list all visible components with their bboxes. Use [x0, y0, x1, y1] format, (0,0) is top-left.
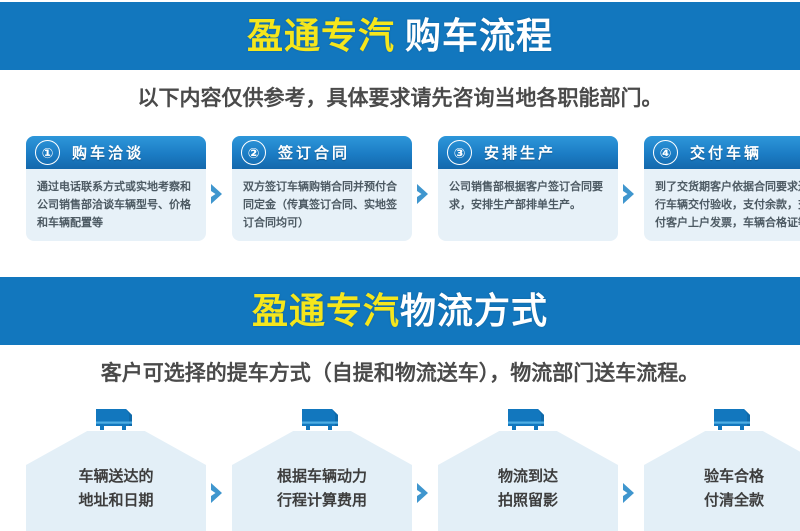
- step-card-1[interactable]: ① 购车洽谈 通过电话联系方式或实地考察和公司销售部洽谈车辆型号、价格和车辆配置…: [26, 136, 206, 241]
- step-card-2[interactable]: ② 签订合同 双方签订车辆购销合同并预付合同定金（传真签订合同、实地签订合同均可…: [232, 136, 412, 241]
- banner-title-purchase: 盈通专汽购车流程: [247, 18, 553, 54]
- step-number-badge-2: ②: [241, 140, 266, 165]
- logistics-line2-3: 拍照留影: [498, 489, 558, 513]
- logistics-line1-4: 验车合格: [704, 465, 764, 489]
- logistics-text-1: 车辆送达的 地址和日期: [78, 465, 153, 513]
- step-number-badge-3: ③: [447, 140, 472, 165]
- step-title-2: 签订合同: [278, 142, 350, 163]
- step-arrow-gap-1: [206, 136, 232, 241]
- truck-icon: [711, 407, 757, 433]
- logistics-item-2[interactable]: 根据车辆动力 行程计算费用: [232, 405, 412, 531]
- step-arrow-gap-3: [618, 136, 644, 241]
- logistics-line1-2: 根据车辆动力: [277, 465, 367, 489]
- truck-icon: [299, 407, 345, 433]
- chevron-right-icon: [622, 184, 635, 204]
- logi-arrow-gap-3: [618, 405, 644, 531]
- chevron-right-icon: [416, 184, 429, 204]
- step-2-header: ② 签订合同: [232, 136, 412, 169]
- step-4-header: ④ 交付车辆: [644, 136, 800, 169]
- logistics-text-2: 根据车辆动力 行程计算费用: [277, 465, 367, 513]
- chevron-right-icon: [622, 483, 635, 503]
- infographic-page: 盈通专汽购车流程 以下内容仅供参考，具体要求请先咨询当地各职能部门。 ① 购车洽…: [0, 0, 800, 531]
- row-left-pad: [0, 136, 26, 241]
- step-arrow-gap-2: [412, 136, 438, 241]
- purchase-process-banner: 盈通专汽购车流程: [0, 2, 800, 70]
- banner-title-logistics: 盈通专汽物流方式: [252, 293, 548, 329]
- logistics-subtitle: 客户可选择的提车方式（自提和物流送车），物流部门送车流程。: [0, 357, 800, 387]
- step-card-3[interactable]: ③ 安排生产 公司销售部根据客户签订合同要求，安排生产部排单生产。: [438, 136, 618, 241]
- logistics-line2-1: 地址和日期: [78, 489, 153, 513]
- step-card-4[interactable]: ④ 交付车辆 到了交货期客户依据合同要求进行车辆交付验收，支付余款，交付客户上户…: [644, 136, 800, 241]
- logistics-pentagon-3: 物流到达 拍照留影: [438, 431, 618, 531]
- logistics-line1-1: 车辆送达的: [78, 465, 153, 489]
- purchase-process-subtitle: 以下内容仅供参考，具体要求请先咨询当地各职能部门。: [0, 82, 800, 112]
- banner-subject: 购车流程: [405, 15, 553, 56]
- step-1-header: ① 购车洽谈: [26, 136, 206, 169]
- logistics-steps-row: 车辆送达的 地址和日期 根据车辆动力 行程计算费用: [0, 405, 800, 531]
- step-title-3: 安排生产: [484, 142, 556, 163]
- truck-icon: [93, 407, 139, 433]
- logistics-item-3[interactable]: 物流到达 拍照留影: [438, 405, 618, 531]
- purchase-steps-row: ① 购车洽谈 通过电话联系方式或实地考察和公司销售部洽谈车辆型号、价格和车辆配置…: [0, 136, 800, 246]
- logistics-line1-3: 物流到达: [498, 465, 558, 489]
- step-title-4: 交付车辆: [690, 142, 762, 163]
- chevron-right-icon: [210, 483, 223, 503]
- step-body-1: 通过电话联系方式或实地考察和公司销售部洽谈车辆型号、价格和车辆配置等: [26, 169, 206, 241]
- banner-subject: 物流方式: [400, 290, 548, 331]
- logistics-pentagon-4: 验车合格 付清全款: [644, 431, 800, 531]
- step-number-badge-1: ①: [35, 140, 60, 165]
- logistics-line2-2: 行程计算费用: [277, 489, 367, 513]
- logistics-item-1[interactable]: 车辆送达的 地址和日期: [26, 405, 206, 531]
- step-body-2: 双方签订车辆购销合同并预付合同定金（传真签订合同、实地签订合同均可）: [232, 169, 412, 241]
- logistics-text-4: 验车合格 付清全款: [704, 465, 764, 513]
- logi-arrow-gap-1: [206, 405, 232, 531]
- logi-left-pad: [0, 405, 26, 531]
- brand-name: 盈通专汽: [252, 290, 400, 331]
- truck-icon: [505, 407, 551, 433]
- step-title-1: 购车洽谈: [72, 142, 144, 163]
- step-body-4: 到了交货期客户依据合同要求进行车辆交付验收，支付余款，交付客户上户发票，车辆合格…: [644, 169, 800, 241]
- logi-arrow-gap-2: [412, 405, 438, 531]
- logistics-line2-4: 付清全款: [704, 489, 764, 513]
- brand-name: 盈通专汽: [247, 15, 395, 56]
- chevron-right-icon: [416, 483, 429, 503]
- step-3-header: ③ 安排生产: [438, 136, 618, 169]
- step-number-badge-4: ④: [653, 140, 678, 165]
- step-body-3: 公司销售部根据客户签订合同要求，安排生产部排单生产。: [438, 169, 618, 241]
- logistics-banner: 盈通专汽物流方式: [0, 277, 800, 345]
- logistics-text-3: 物流到达 拍照留影: [498, 465, 558, 513]
- logistics-item-4[interactable]: 验车合格 付清全款: [644, 405, 800, 531]
- logistics-pentagon-1: 车辆送达的 地址和日期: [26, 431, 206, 531]
- chevron-right-icon: [210, 184, 223, 204]
- logistics-pentagon-2: 根据车辆动力 行程计算费用: [232, 431, 412, 531]
